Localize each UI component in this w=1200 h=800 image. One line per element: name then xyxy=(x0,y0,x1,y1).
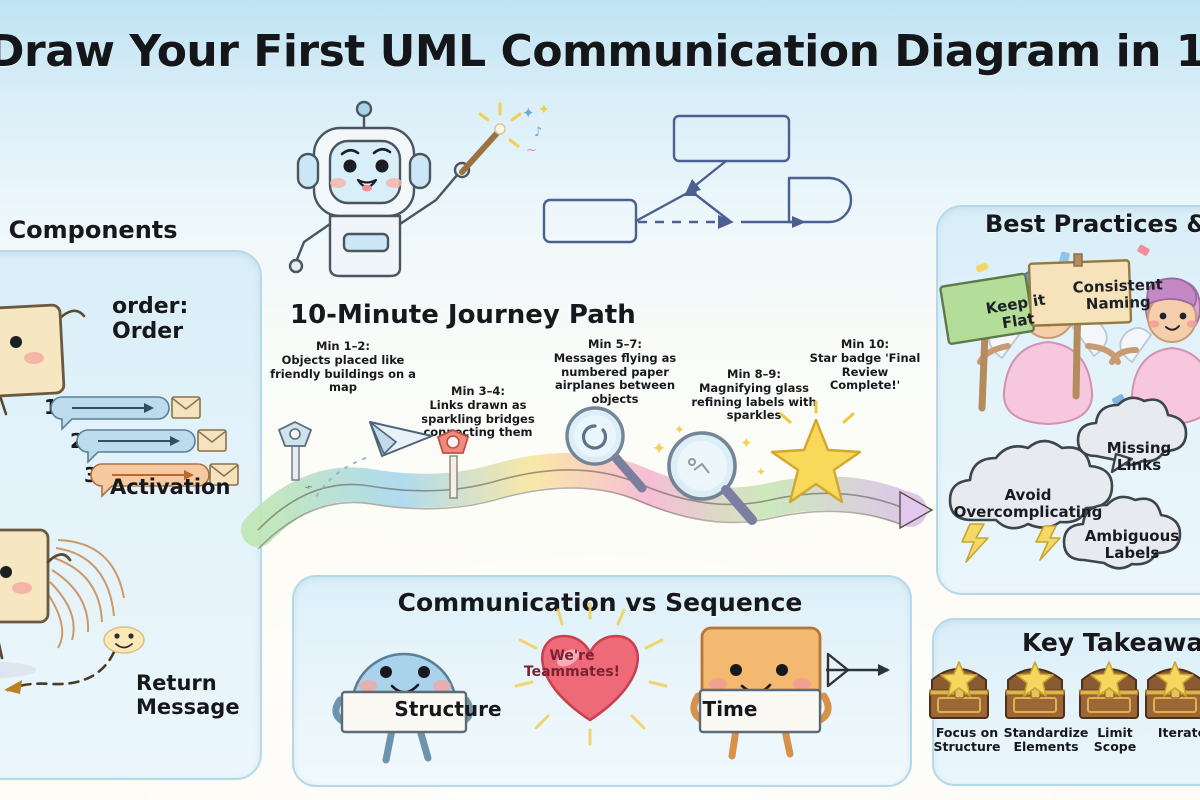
hero-illustration: ✦ ♪ ✦ ~ xyxy=(286,96,916,286)
structure-sign-label: Structure xyxy=(388,697,508,721)
journey-title: 10-Minute Journey Path xyxy=(290,300,636,330)
activation-label: Activation xyxy=(110,475,230,499)
infographic-canvas: Draw Your First UML Communication Diagra… xyxy=(0,0,1200,800)
time-character xyxy=(694,628,828,756)
pitfall-2-label: Missing Links xyxy=(1095,440,1183,474)
journey-step-5: Min 10:Star badge 'Final Review Complete… xyxy=(806,338,924,393)
page-title: Draw Your First UML Communication Diagra… xyxy=(0,26,1200,77)
treasure-chests xyxy=(928,658,1200,728)
pitfall-1-label: Avoid Overcomplicating xyxy=(950,487,1106,521)
object-name-label: order: Order xyxy=(112,295,188,344)
treasure-chest-4 xyxy=(1146,662,1200,718)
paper-plane-icon xyxy=(370,422,432,456)
svg-text:✦: ✦ xyxy=(538,102,550,118)
svg-text:✦: ✦ xyxy=(674,423,685,438)
svg-text:✦: ✦ xyxy=(522,104,535,122)
key-takeaways-title: Key Takeaways xyxy=(1022,628,1200,657)
core-components-title: Core Components xyxy=(0,216,178,244)
journey-path: ⌁ xyxy=(250,418,930,568)
pitfall-3-label: Ambiguous Labels xyxy=(1080,528,1184,562)
treasure-chest-3 xyxy=(1080,662,1138,718)
takeaway-4-label: Iterate xyxy=(1146,726,1200,740)
heart-label: We're Teammates! xyxy=(512,648,632,680)
uml-sketch xyxy=(544,116,851,242)
takeaway-3-label: LimitScope xyxy=(1084,726,1146,755)
takeaway-1-label: Focus onStructure xyxy=(924,726,1010,755)
svg-text:✦: ✦ xyxy=(756,465,766,479)
time-sign-label: Time xyxy=(690,697,770,721)
best-practices-title: Best Practices & Pitfalls xyxy=(985,210,1200,238)
magic-wand-icon: ✦ ♪ ✦ ~ xyxy=(462,102,550,172)
treasure-chest-2 xyxy=(1006,662,1064,718)
message-bubble-2 xyxy=(77,430,195,462)
envelope-icon-1 xyxy=(172,397,200,418)
journey-step-4: Min 8–9:Magnifying glass refining labels… xyxy=(690,368,818,423)
svg-text:♪: ♪ xyxy=(534,125,542,140)
svg-text:~: ~ xyxy=(526,143,537,158)
message-bubble-1 xyxy=(51,397,169,429)
svg-text:✦: ✦ xyxy=(652,439,666,459)
placard-2-label: Consistent Naming xyxy=(1067,276,1168,314)
time-arrow xyxy=(826,654,890,686)
signpost-icon xyxy=(279,422,311,480)
envelope-icon-2 xyxy=(198,430,226,451)
treasure-chest-1 xyxy=(930,662,988,718)
smiley-blob xyxy=(104,627,144,653)
takeaway-2-label: StandardizeElements xyxy=(1000,726,1092,755)
journey-step-1: Min 1–2:Objects placed like friendly bui… xyxy=(268,340,418,395)
robot-mascot xyxy=(290,102,469,276)
return-message-label: Return Message xyxy=(136,672,240,719)
svg-text:✦: ✦ xyxy=(740,434,753,452)
journey-step-3: Min 5–7:Messages flying as numbered pape… xyxy=(530,338,700,407)
lightning-icon xyxy=(962,524,1060,562)
